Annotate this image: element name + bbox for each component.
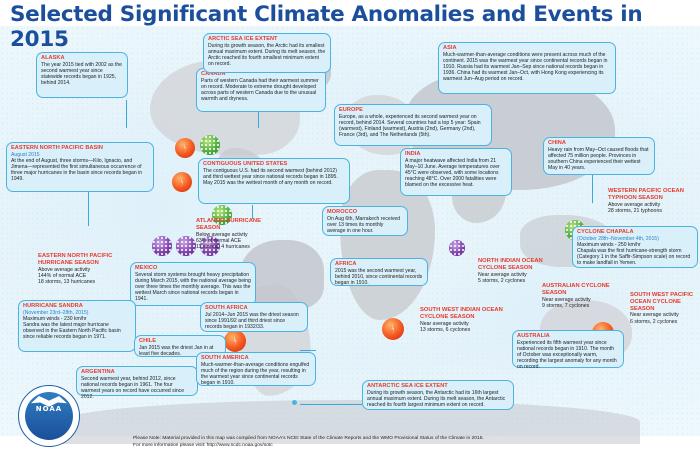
- storm-icon-eastern-pacific-2: [172, 172, 192, 192]
- callout-cyclone-chapala[interactable]: CYCLONE CHAPALA (October 28th–November 4…: [572, 226, 698, 268]
- noaa-logo: NOAA: [18, 385, 80, 447]
- callout-antarctic-sea-ice[interactable]: ANTARCTIC SEA ICE EXTENT During its grow…: [362, 380, 514, 410]
- callout-body: Second warmest year, behind 2012, since …: [81, 376, 193, 400]
- footer-line-1: Please Note: Material provided in this m…: [133, 436, 603, 443]
- callout-heading: EUROPE: [339, 107, 487, 114]
- leader-line-contiguous-us: [252, 205, 254, 219]
- callout-india[interactable]: INDIA A major heatwave affected India fr…: [400, 148, 512, 196]
- callout-body: Heavy rain from May–Oct caused floods th…: [548, 147, 650, 171]
- season-line-2: 28 storms, 21 typhoons: [608, 208, 696, 214]
- noaa-wordmark: NOAA: [25, 405, 73, 413]
- callout-heading: AUSTRALIA: [517, 333, 619, 340]
- callout-body: The year 2015 tied with 2002 as the seco…: [41, 62, 123, 86]
- footer-note: Please Note: Material provided in this m…: [133, 436, 603, 449]
- label-western-pacific-ocean-typhoon-season: WESTERN PACIFIC OCEAN TYPHOON SEASON Abo…: [608, 188, 696, 214]
- label-australian-cyclone-season: AUSTRALIAN CYCLONE SEASON Near average a…: [542, 283, 628, 309]
- season-line-2: 9 storms, 7 cyclones: [542, 303, 628, 309]
- season-heading: NORTH INDIAN OCEAN CYCLONE SEASON: [478, 258, 558, 272]
- callout-heading: HURRICANE SANDRA: [23, 303, 131, 310]
- callout-body: 2015 was the second warmest year, behind…: [335, 268, 423, 286]
- callout-heading: INDIA: [405, 151, 507, 158]
- noaa-logo-seal: NOAA: [25, 392, 73, 440]
- callout-alaska[interactable]: ALASKA The year 2015 tied with 2002 as t…: [36, 52, 128, 98]
- callout-heading: CHILE: [139, 338, 221, 345]
- callout-canada[interactable]: CANADA Parts of western Canada had their…: [196, 68, 326, 112]
- callout-china[interactable]: CHINA Heavy rain from May–Oct caused flo…: [543, 137, 655, 175]
- callout-heading: CHINA: [548, 140, 650, 147]
- callout-heading: ASIA: [443, 45, 611, 52]
- leader-line-china: [592, 175, 594, 203]
- label-atlantic-hurricane-season: ATLANTIC HURRICANE SEASON Below average …: [196, 218, 272, 250]
- leader-line-alaska: [126, 100, 128, 128]
- leader-line-eastern-north-pacific-basin: [88, 190, 90, 226]
- season-line-3: 11 storms, 4 hurricanes: [196, 244, 272, 250]
- callout-heading: ARCTIC SEA ICE EXTENT: [208, 36, 326, 43]
- callout-body: On Aug 6th, Marrakech received over 13 t…: [327, 216, 403, 234]
- callout-africa[interactable]: AFRICA 2015 was the second warmest year,…: [330, 258, 428, 286]
- callout-body: Maximum winds - 250 km/hr Chapala was th…: [577, 242, 693, 266]
- label-south-west-indian-ocean-cyclone-season: SOUTH WEST INDIAN OCEAN CYCLONE SEASON N…: [420, 307, 504, 333]
- season-line-2: 13 storms, 6 cyclones: [420, 327, 504, 333]
- callout-body: Much-warmer-than-average conditions engu…: [201, 362, 311, 386]
- callout-eastern-north-pacific-basin[interactable]: EASTERN NORTH PACIFIC BASIN August 2015 …: [6, 142, 154, 192]
- callout-body: Parts of western Canada had their warmes…: [201, 78, 321, 102]
- season-heading: ATLANTIC HURRICANE SEASON: [196, 218, 272, 232]
- season-heading: SOUTH WEST INDIAN OCEAN CYCLONE SEASON: [420, 307, 504, 321]
- callout-contiguous-united-states[interactable]: CONTIGUOUS UNITED STATES The contiguous …: [198, 158, 350, 204]
- callout-body: Several storm systems brought heavy prec…: [135, 272, 251, 302]
- season-heading: EASTERN NORTH PACIFIC HURRICANE SEASON: [38, 253, 130, 267]
- callout-heading: MOROCCO: [327, 209, 403, 216]
- callout-heading: EASTERN NORTH PACIFIC BASIN: [11, 145, 149, 152]
- callout-body: The contiguous U.S. had its second warme…: [203, 168, 345, 186]
- callout-body: Europe, as a whole, experienced its seco…: [339, 114, 487, 138]
- callout-morocco[interactable]: MOROCCO On Aug 6th, Marrakech received o…: [322, 206, 408, 236]
- callout-heading: CYCLONE CHAPALA: [577, 229, 693, 236]
- callout-heading: SOUTH AFRICA: [205, 305, 303, 312]
- callout-heading: ALASKA: [41, 55, 123, 62]
- storm-icon-cyclone-chapala: [449, 240, 465, 256]
- infographic-canvas: Selected Significant Climate Anomalies a…: [0, 0, 700, 460]
- season-line-2: 6 storms, 2 cyclones: [630, 319, 698, 325]
- callout-heading: ANTARCTIC SEA ICE EXTENT: [367, 383, 509, 390]
- callout-south-africa[interactable]: SOUTH AFRICA Jul 2014–Jun 2015 was the d…: [200, 302, 308, 332]
- leader-line-antarctic: [300, 404, 362, 406]
- storm-icon-south-america-3: [224, 330, 246, 352]
- season-line-3: 18 storms, 13 hurricanes: [38, 279, 130, 285]
- callout-europe[interactable]: EUROPE Europe, as a whole, experienced i…: [334, 104, 492, 146]
- leader-endpoint-antarctic: [292, 400, 297, 405]
- callout-south-america[interactable]: SOUTH AMERICA Much-warmer-than-average c…: [196, 352, 316, 386]
- callout-body: At the end of August, three storms—Kilo,…: [11, 158, 149, 182]
- callout-hurricane-sandra[interactable]: HURRICANE SANDRA (November 23rd–28th, 20…: [18, 300, 136, 352]
- label-north-indian-ocean-cyclone-season: NORTH INDIAN OCEAN CYCLONE SEASON Near a…: [478, 258, 558, 284]
- callout-body: During its growth season, the Arctic had…: [208, 43, 326, 67]
- storm-icon-hurricane-sandra-1: [152, 236, 172, 256]
- callout-arctic-sea-ice[interactable]: ARCTIC SEA ICE EXTENT During its growth …: [203, 33, 331, 73]
- callout-body: Jul 2014–Jun 2015 was the driest season …: [205, 312, 303, 330]
- storm-icon-pacific-green-1: [200, 135, 220, 155]
- callout-australia[interactable]: AUSTRALIA Experienced its fifth warmest …: [512, 330, 624, 368]
- season-heading: WESTERN PACIFIC OCEAN TYPHOON SEASON: [608, 188, 696, 202]
- callout-body: Experienced its fifth warmest year since…: [517, 340, 619, 370]
- storm-icon-eastern-pacific-1: [175, 138, 195, 158]
- callout-mexico[interactable]: MEXICO Several storm systems brought hea…: [130, 262, 256, 306]
- callout-body: During its growth season, the Antarctic …: [367, 390, 509, 408]
- leader-line-canada: [258, 112, 260, 128]
- storm-icon-south-west-indian: [382, 318, 404, 340]
- label-eastern-north-pacific-hurricane-season: EASTERN NORTH PACIFIC HURRICANE SEASON A…: [38, 253, 130, 285]
- footer-line-2: For more information please visit: http:…: [133, 443, 603, 450]
- season-heading: AUSTRALIAN CYCLONE SEASON: [542, 283, 628, 297]
- callout-body: A major heatwave affected India from 21 …: [405, 158, 507, 188]
- callout-heading: CONTIGUOUS UNITED STATES: [203, 161, 345, 168]
- callout-asia[interactable]: ASIA Much-warmer-than-average conditions…: [438, 42, 616, 94]
- callout-heading: SOUTH AMERICA: [201, 355, 311, 362]
- callout-heading: ARGENTINA: [81, 369, 193, 376]
- callout-heading: MEXICO: [135, 265, 251, 272]
- storm-icon-hurricane-sandra-2: [176, 236, 196, 256]
- season-heading: SOUTH WEST PACIFIC OCEAN CYCLONE SEASON: [630, 292, 698, 312]
- callout-body: Much-warmer-than-average conditions were…: [443, 52, 611, 82]
- callout-argentina[interactable]: ARGENTINA Second warmest year, behind 20…: [76, 366, 198, 396]
- callout-heading: AFRICA: [335, 261, 423, 268]
- callout-body: Maximum winds - 230 km/hr Sandra was the…: [23, 316, 131, 340]
- label-south-west-pacific-ocean-cyclone-season: SOUTH WEST PACIFIC OCEAN CYCLONE SEASON …: [630, 292, 698, 325]
